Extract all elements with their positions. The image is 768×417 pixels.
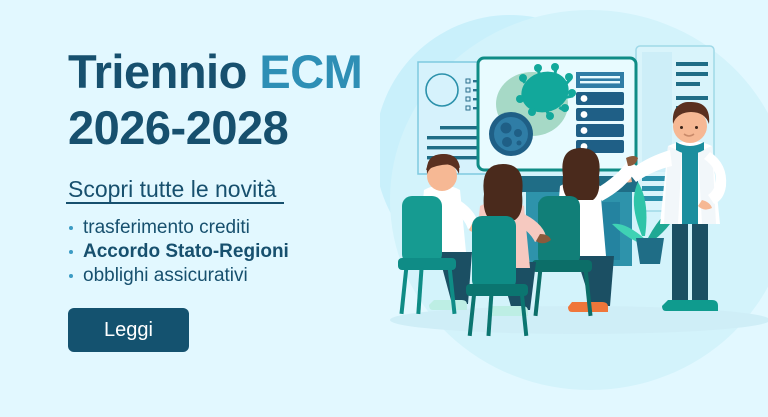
subheading: Scopri tutte le novità (68, 174, 276, 204)
list-item-label: Accordo Stato-Regioni (83, 241, 289, 262)
bullet-dot-icon (69, 226, 73, 230)
classroom-illustration (380, 0, 768, 417)
feature-list: trasferimento crediti Accordo Stato-Regi… (68, 216, 398, 288)
promo-banner: Triennio ECM 2026-2028 Scopri tutte le n… (0, 0, 768, 417)
page-title-years: 2026-2028 (68, 100, 398, 156)
list-item-label: obblighi assicurativi (83, 265, 248, 286)
banner-copy: Triennio ECM 2026-2028 Scopri tutte le n… (68, 44, 398, 352)
headline-part-accent: ECM (259, 45, 362, 98)
bullet-dot-icon (69, 250, 73, 254)
whiteboard-screen (478, 58, 636, 170)
list-item: trasferimento crediti (68, 216, 398, 240)
read-more-button[interactable]: Leggi (68, 308, 189, 352)
page-title: Triennio ECM (68, 44, 398, 100)
list-item-label: trasferimento crediti (83, 217, 250, 238)
bullet-dot-icon (69, 274, 73, 278)
list-item: obblighi assicurativi (68, 264, 398, 288)
cell-dish-graphic (489, 112, 533, 156)
headline-part-primary: Triennio (68, 45, 259, 98)
list-item: Accordo Stato-Regioni (68, 240, 398, 264)
data-panel (576, 72, 624, 153)
